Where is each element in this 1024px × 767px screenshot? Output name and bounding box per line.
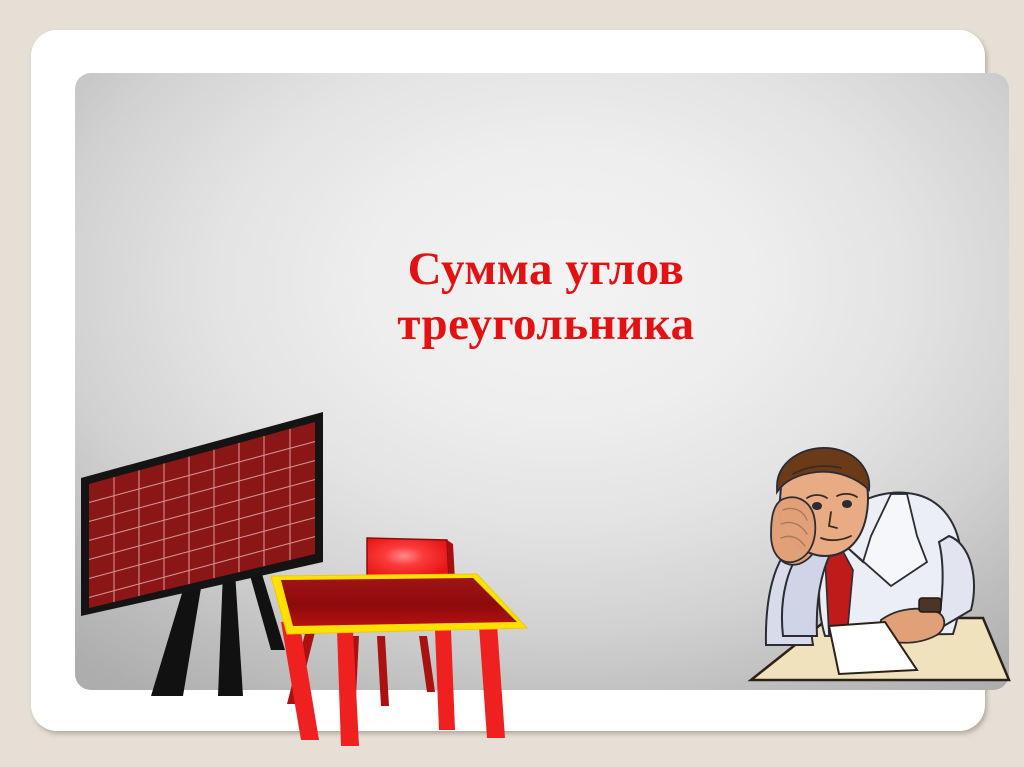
chair-back <box>367 538 449 578</box>
student-svg <box>721 440 1021 690</box>
page-title: Сумма углов треугольника <box>281 242 811 351</box>
desk-and-chair-illustration <box>259 518 549 753</box>
slide-root: Сумма углов треугольника <box>0 0 1024 767</box>
title-line-2: треугольника <box>281 297 811 352</box>
title-line-1: Сумма углов <box>281 242 811 297</box>
student-illustration <box>721 440 1021 690</box>
slide-card: Сумма углов треугольника <box>31 30 985 731</box>
desk-legs <box>281 620 505 746</box>
student-watch <box>919 598 941 612</box>
student-cheek-hand <box>771 497 815 562</box>
desk-chair-svg <box>259 518 549 753</box>
